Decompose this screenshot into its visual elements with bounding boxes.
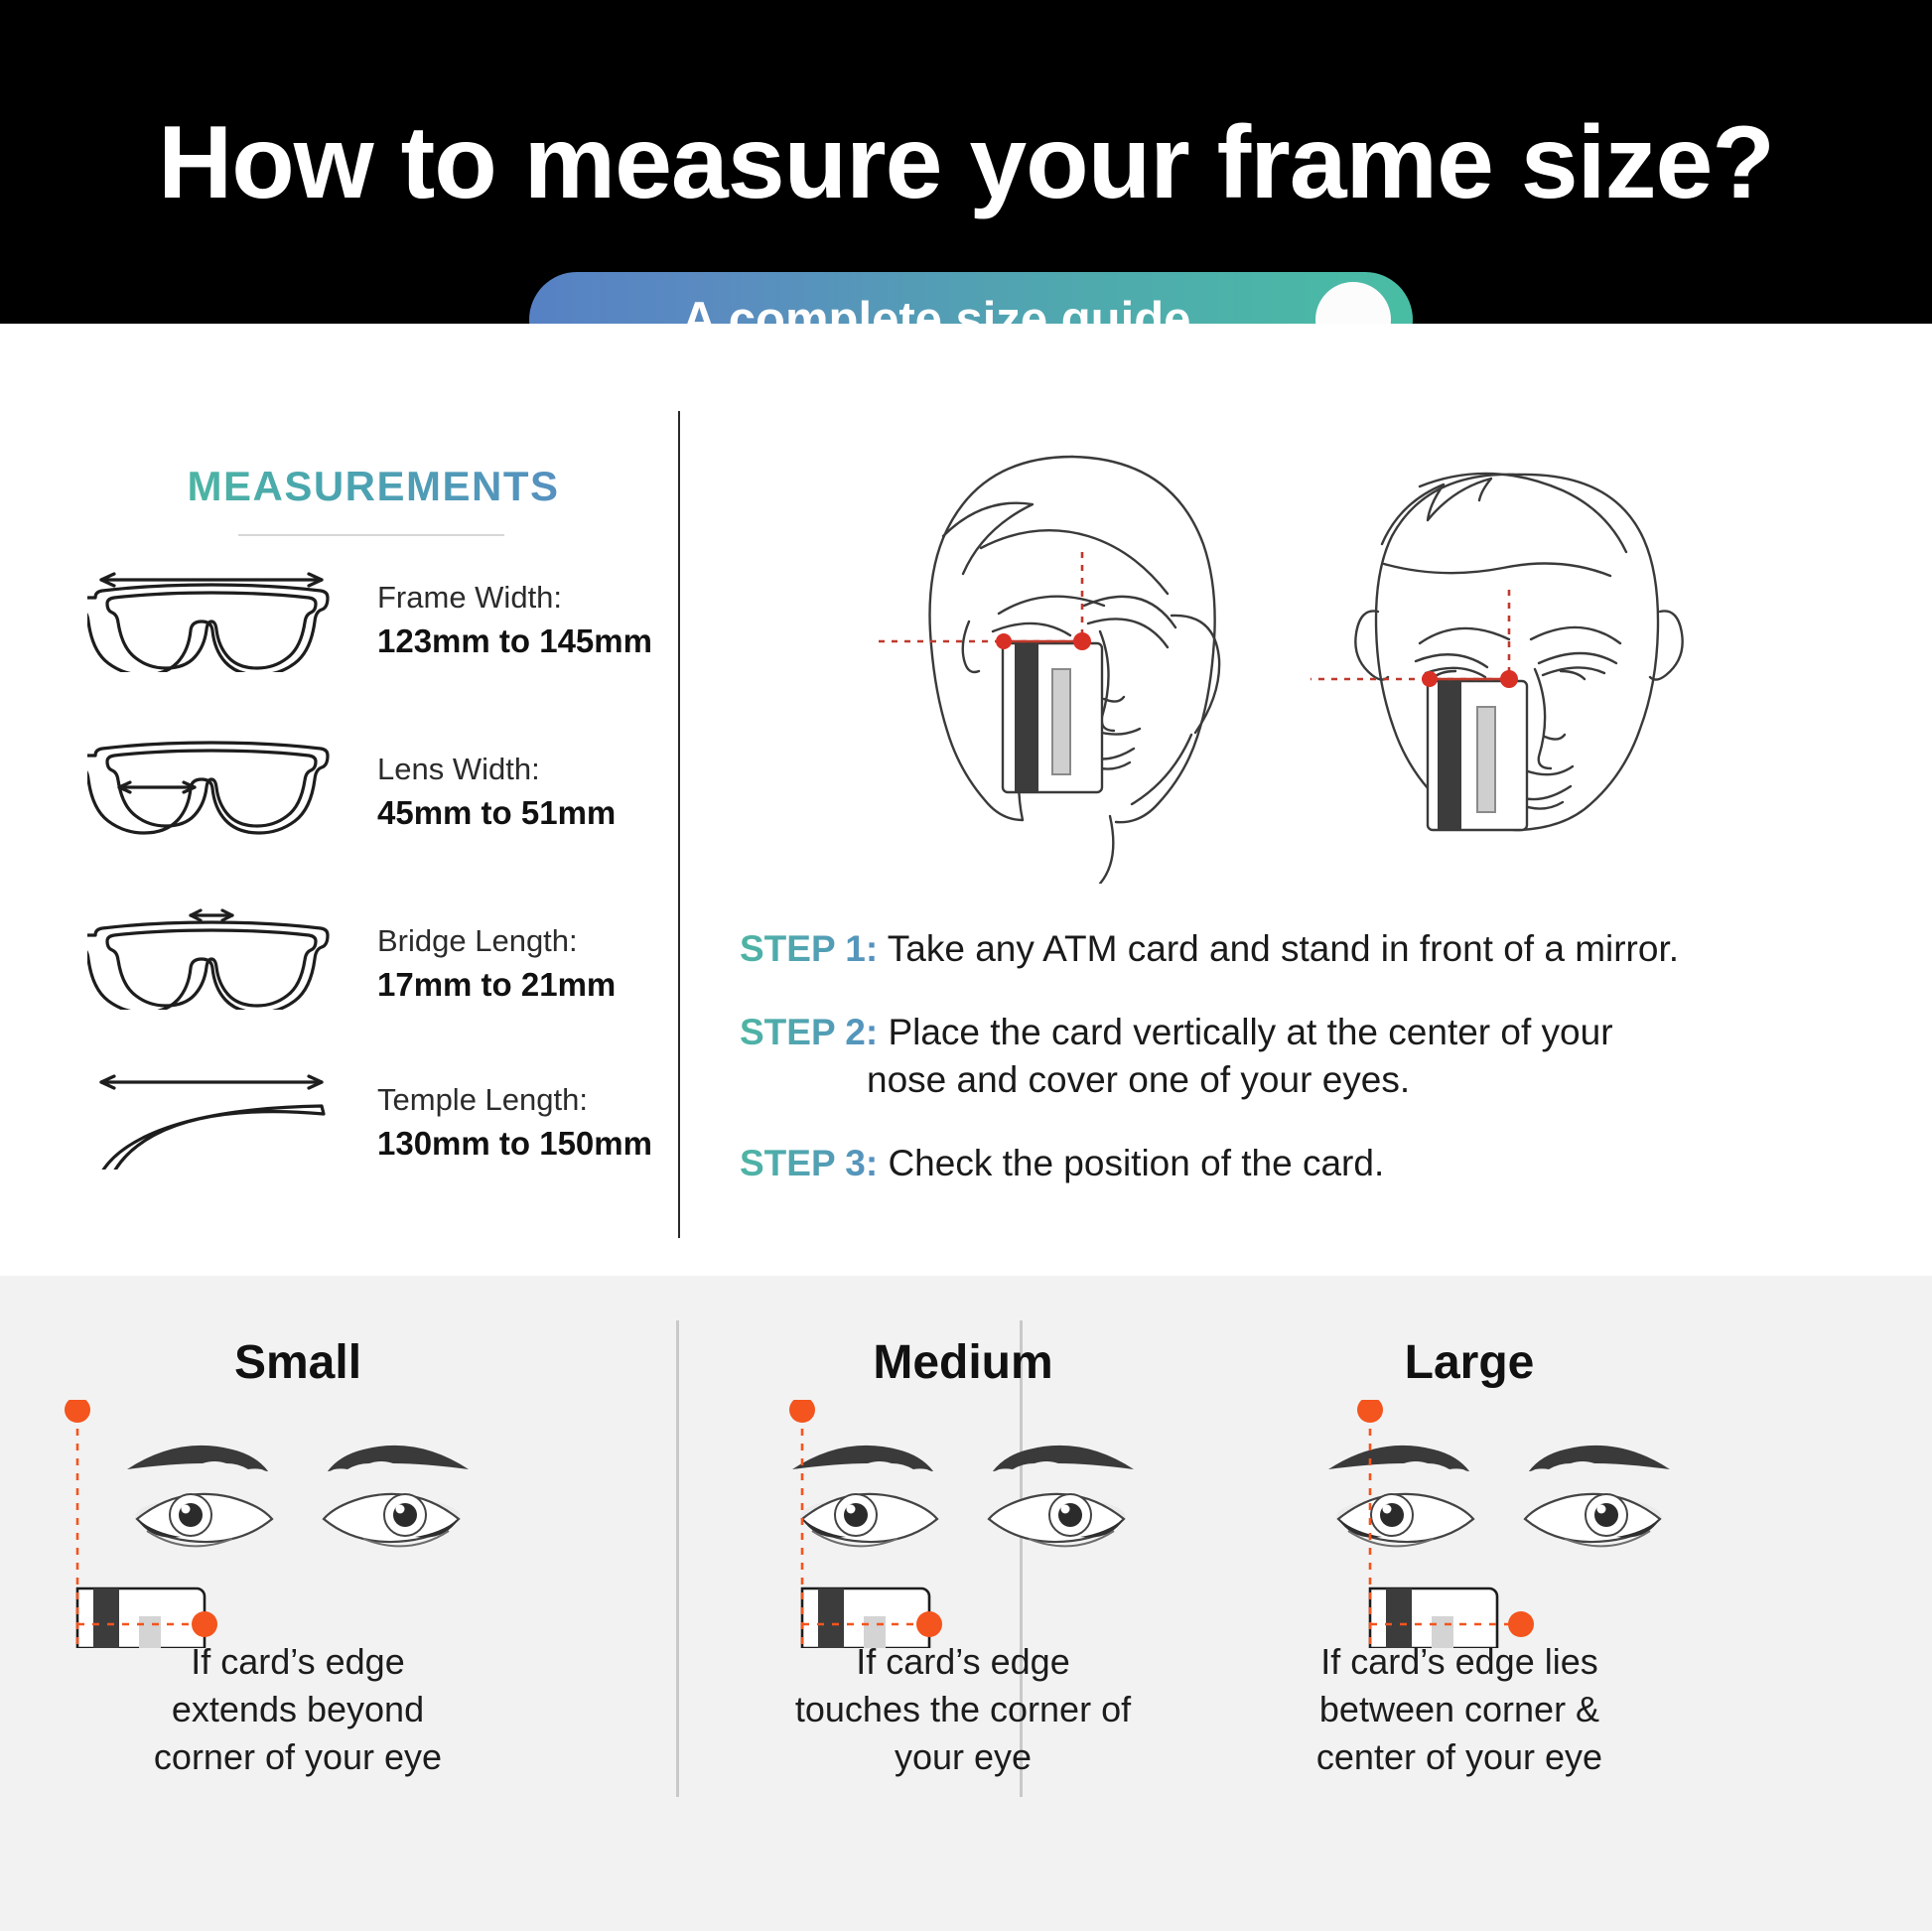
atm-card	[1428, 681, 1527, 830]
step-text: Take any ATM card and stand in front of …	[888, 928, 1679, 969]
marker-dot	[192, 1611, 217, 1637]
measurement-text: Bridge Length: 17mm to 21mm	[377, 921, 616, 1007]
eyes-with-card-large-icon	[1261, 1400, 1737, 1648]
measurement-text: Lens Width: 45mm to 51mm	[377, 750, 616, 835]
step-key: STEP 3:	[740, 1143, 878, 1183]
caption-line: center of your eye	[1162, 1733, 1757, 1781]
size-caption: If card’s edge extends beyond corner of …	[60, 1638, 536, 1781]
face-illustrations	[874, 427, 1767, 884]
page-title: How to measure your frame size?	[0, 104, 1932, 222]
size-title: Medium	[725, 1335, 1201, 1390]
measurement-value: 45mm to 51mm	[377, 792, 616, 835]
column-divider	[678, 411, 680, 1238]
marker-dot	[1508, 1611, 1534, 1637]
step-item-2: STEP 2: Place the card vertically at the…	[740, 1009, 1891, 1104]
caption-line: your eye	[685, 1733, 1241, 1781]
measurement-text: Temple Length: 130mm to 150mm	[377, 1080, 652, 1166]
measurements-heading-rule	[238, 534, 504, 536]
measurement-text: Frame Width: 123mm to 145mm	[377, 578, 652, 663]
caption-line: If card’s edge lies	[1162, 1638, 1757, 1686]
size-caption: If card’s edge lies between corner & cen…	[1162, 1638, 1757, 1781]
measurement-label: Frame Width:	[377, 578, 652, 618]
caption-line: If card’s edge	[685, 1638, 1241, 1686]
step-key: STEP 1:	[740, 928, 878, 969]
size-comparison-section: Small	[0, 1276, 1932, 1931]
size-column-divider	[676, 1320, 679, 1797]
size-title: Large	[1231, 1335, 1708, 1390]
measurement-row-temple-length: Temple Length: 130mm to 150mm	[87, 1070, 643, 1179]
measurement-row-lens-width: Lens Width: 45mm to 51mm	[87, 740, 643, 849]
caption-line: If card’s edge	[60, 1638, 536, 1686]
eyeglasses-frame-width-icon	[87, 568, 336, 672]
step-text: Check the position of the card.	[888, 1143, 1384, 1183]
caption-line: between corner &	[1162, 1686, 1757, 1733]
marker-dot	[996, 633, 1012, 649]
measurements-heading: MEASUREMENTS	[185, 463, 562, 510]
marker-dot	[1500, 670, 1518, 688]
step-item-3: STEP 3: Check the position of the card.	[740, 1140, 1891, 1187]
man-face-with-atm-card-icon	[1311, 435, 1727, 872]
marker-dot	[1422, 671, 1438, 687]
measurement-label: Bridge Length:	[377, 921, 616, 961]
caption-line: touches the corner of	[685, 1686, 1241, 1733]
measurement-row-frame-width: Frame Width: 123mm to 145mm	[87, 568, 643, 677]
woman-face-with-atm-card-icon	[874, 427, 1311, 884]
measurement-label: Temple Length:	[377, 1080, 652, 1120]
measurement-label: Lens Width:	[377, 750, 616, 789]
measurement-value: 130mm to 150mm	[377, 1123, 652, 1166]
eyes-with-card-small-icon	[60, 1400, 536, 1648]
steps-list: STEP 1: Take any ATM card and stand in f…	[740, 925, 1891, 1223]
atm-card	[1003, 643, 1102, 792]
marker-dot	[789, 1400, 815, 1423]
step-text-line2: nose and cover one of your eyes.	[740, 1056, 1891, 1104]
size-caption: If card’s edge touches the corner of you…	[685, 1638, 1241, 1781]
step-key: STEP 2:	[740, 1012, 878, 1052]
measurement-value: 17mm to 21mm	[377, 964, 616, 1007]
marker-dot	[65, 1400, 90, 1423]
eyeglasses-lens-width-icon	[87, 740, 336, 844]
page-header: How to measure your frame size? A comple…	[0, 0, 1932, 324]
caption-line: extends beyond	[60, 1686, 536, 1733]
caption-line: corner of your eye	[60, 1733, 536, 1781]
measurement-row-bridge-length: Bridge Length: 17mm to 21mm	[87, 905, 643, 1015]
step-item-1: STEP 1: Take any ATM card and stand in f…	[740, 925, 1891, 973]
eyes-with-card-medium-icon	[725, 1400, 1201, 1648]
marker-dot	[916, 1611, 942, 1637]
step-text: Place the card vertically at the center …	[888, 1012, 1612, 1052]
size-title: Small	[60, 1335, 536, 1390]
measurement-value: 123mm to 145mm	[377, 621, 652, 663]
marker-dot	[1073, 632, 1091, 650]
eyeglasses-temple-length-icon	[87, 1070, 336, 1170]
marker-dot	[1357, 1400, 1383, 1423]
eyeglasses-bridge-length-icon	[87, 905, 336, 1010]
